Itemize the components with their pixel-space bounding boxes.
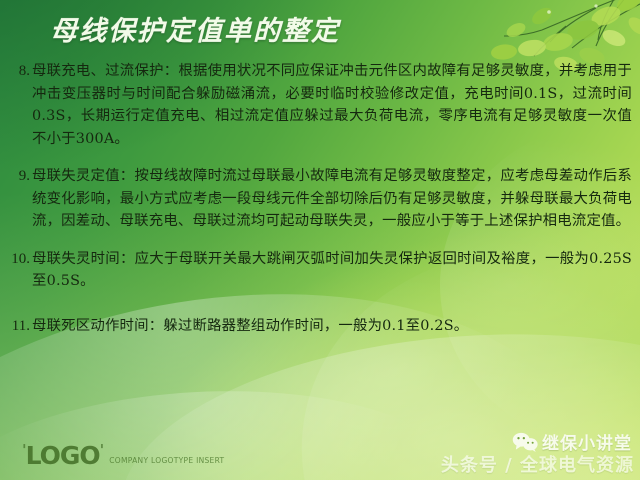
- list-item-number: 10.: [8, 248, 32, 271]
- footer-logo: 'LOGO' COMPANY LOGOTYPE INSERT: [22, 443, 224, 468]
- page-title: 母线保护定值单的整定: [50, 9, 340, 48]
- list-item-text: 母联死区动作时间：躲过断路器整组动作时间，一般为0.1至0.2S。: [32, 315, 634, 338]
- logo-mark: 'LOGO': [22, 443, 103, 468]
- list-item-number: 11.: [8, 315, 32, 338]
- logo-subtitle: COMPANY LOGOTYPE INSERT: [109, 456, 224, 465]
- list-item-number: 9.: [8, 165, 32, 188]
- list-item: 11. 母联死区动作时间：躲过断路器整组动作时间，一般为0.1至0.2S。: [8, 315, 634, 338]
- list-item-text: 母联充电、过流保护：根据使用状况不同应保证冲击元件区内故障有足够灵敏度，并考虑用…: [32, 60, 634, 150]
- toutiao-watermark: 头条号 / 全球电气资源: [441, 451, 634, 477]
- list-item-text: 母联失灵定值：按母线故障时流过母联最小故障电流有足够灵敏度整定，应考虑母差动作后…: [32, 165, 634, 233]
- list-item-text: 母联失灵时间：应大于母联开关最大跳闸灭弧时间加失灵保护返回时间及裕度，一般为0.…: [32, 248, 634, 293]
- logo-quote-right: ': [100, 441, 104, 459]
- list-item-number: 8.: [8, 60, 32, 83]
- list-item: 10. 母联失灵时间：应大于母联开关最大跳闸灭弧时间加失灵保护返回时间及裕度，一…: [8, 248, 634, 293]
- list-item: 8. 母联充电、过流保护：根据使用状况不同应保证冲击元件区内故障有足够灵敏度，并…: [8, 60, 634, 150]
- list-item: 9. 母联失灵定值：按母线故障时流过母联最小故障电流有足够灵敏度整定，应考虑母差…: [8, 165, 634, 233]
- content-list: 8. 母联充电、过流保护：根据使用状况不同应保证冲击元件区内故障有足够灵敏度，并…: [8, 60, 634, 352]
- logo-text: LOGO: [26, 441, 100, 470]
- slide-canvas: 母线保护定值单的整定 8. 母联充电、过流保护：根据使用状况不同应保证冲击元件区…: [0, 0, 640, 480]
- wechat-icon: [512, 431, 538, 453]
- logo-quote-left: ': [22, 441, 26, 459]
